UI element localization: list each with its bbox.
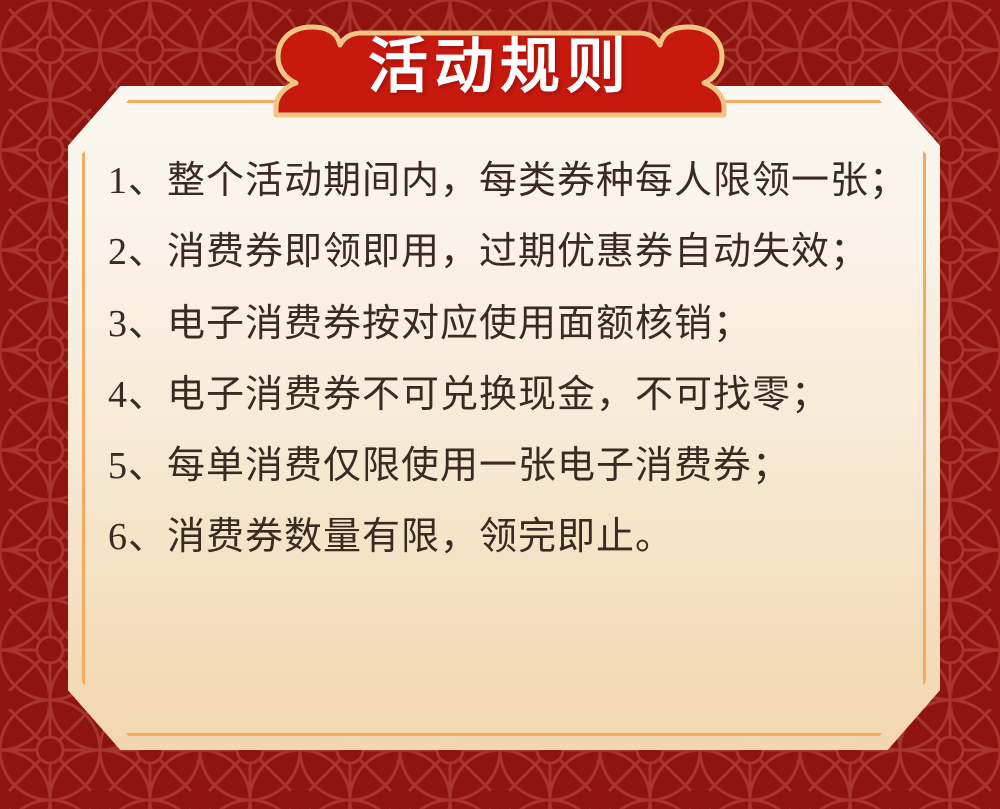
title-banner: 活动规则 (252, 19, 748, 119)
list-item: 4、电子消费券不可兑换现金，不可找零； (108, 370, 908, 421)
banner-title: 活动规则 (252, 19, 748, 119)
list-item: 6、消费券数量有限，领完即止。 (108, 512, 908, 563)
list-item: 5、每单消费仅限使用一张电子消费券； (108, 441, 908, 492)
list-item: 3、电子消费券按对应使用面额核销； (108, 299, 908, 350)
list-item: 1、整个活动期间内，每类券种每人限领一张； (108, 156, 908, 207)
rules-list: 1、整个活动期间内，每类券种每人限领一张； 2、消费券即领即用，过期优惠券自动失… (108, 156, 908, 564)
activity-rules-poster: 活动规则 1、整个活动期间内，每类券种每人限领一张； 2、消费券即领即用，过期优… (0, 0, 1000, 809)
list-item: 2、消费券即领即用，过期优惠券自动失效； (108, 227, 908, 278)
